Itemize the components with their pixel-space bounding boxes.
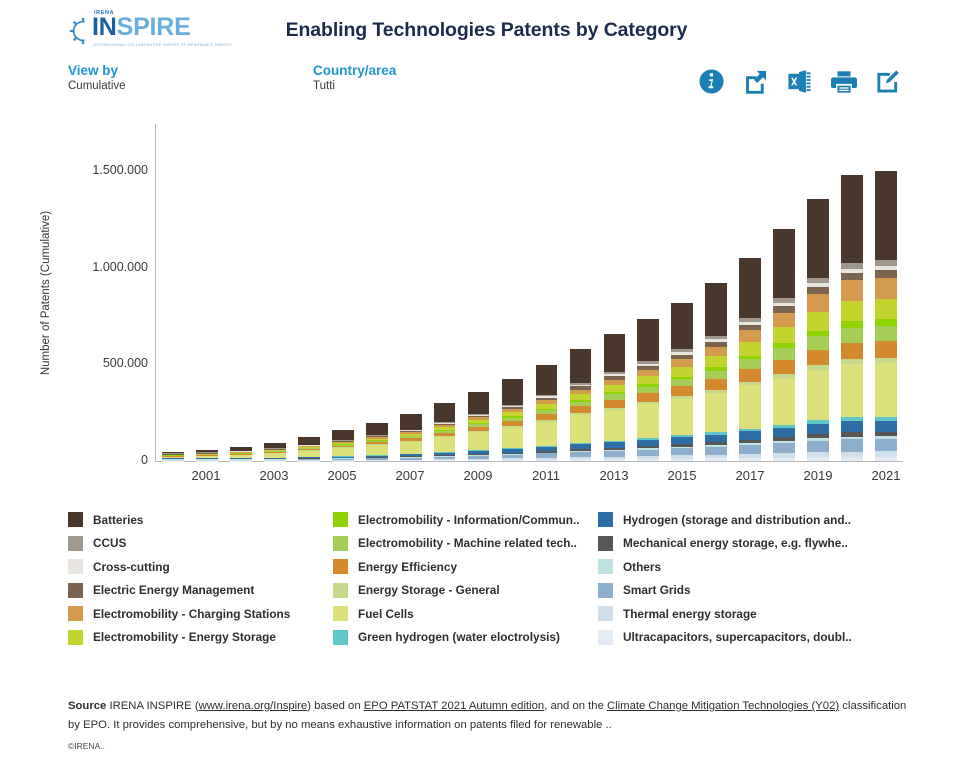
bar-segment[interactable] — [705, 435, 727, 443]
bar-segment[interactable] — [875, 421, 897, 432]
bar-segment[interactable] — [298, 437, 320, 445]
legend-label: Ultracapacitors, supercapacitors, doubl.… — [623, 630, 852, 644]
legend-swatch — [333, 583, 348, 598]
stacked-bar[interactable] — [570, 349, 592, 461]
bar-segment[interactable] — [671, 448, 693, 455]
bar-segment[interactable] — [807, 312, 829, 331]
bar-segment[interactable] — [807, 294, 829, 312]
view-by-control[interactable]: View by Cumulative — [68, 63, 126, 94]
legend-swatch — [333, 606, 348, 621]
bar-segment[interactable] — [739, 369, 761, 382]
bar-segment[interactable] — [366, 423, 388, 436]
bar-segment[interactable] — [671, 379, 693, 386]
bar-slot — [156, 124, 190, 461]
bar-segment[interactable] — [604, 400, 626, 408]
legend-item[interactable]: Batteries — [68, 508, 333, 532]
bar-slot — [462, 124, 496, 461]
stacked-bar[interactable] — [536, 365, 558, 461]
stacked-bar-chart: Number of Patents (Cumulative) 0500.0001… — [0, 112, 973, 497]
legend-item[interactable]: Ultracapacitors, supercapacitors, doubl.… — [598, 626, 898, 650]
stacked-bar[interactable] — [875, 171, 897, 461]
bar-slot — [496, 124, 530, 461]
info-icon[interactable] — [698, 68, 725, 95]
bar-segment[interactable] — [807, 457, 829, 461]
bar-segment[interactable] — [671, 399, 693, 436]
legend-swatch — [333, 512, 348, 527]
bar-segment[interactable] — [875, 326, 897, 341]
stacked-bar[interactable] — [162, 452, 184, 461]
bar-segment[interactable] — [637, 319, 659, 361]
legend-item[interactable]: Fuel Cells — [333, 602, 598, 626]
legend-item[interactable]: Energy Storage - General — [333, 579, 598, 603]
bar-slot — [631, 124, 665, 461]
toolbar — [698, 68, 901, 95]
country-area-label: Country/area — [313, 63, 396, 78]
bar-segment[interactable] — [875, 457, 897, 461]
stacked-bar[interactable] — [671, 303, 693, 461]
bar-segment[interactable] — [604, 410, 626, 441]
legend-label: Energy Efficiency — [358, 560, 457, 574]
bar-segment[interactable] — [875, 439, 897, 452]
legend-column: Hydrogen (storage and distribution and..… — [598, 508, 898, 663]
bar-segment[interactable] — [739, 359, 761, 369]
x-axis-tick: 2009 — [461, 468, 495, 492]
bar-segment[interactable] — [875, 270, 897, 278]
bar-segment[interactable] — [841, 439, 863, 451]
bar-segment[interactable] — [637, 376, 659, 384]
bar-slot — [597, 124, 631, 461]
legend-swatch — [68, 559, 83, 574]
bar-slot — [529, 124, 563, 461]
legend: BatteriesCCUSCross-cuttingElectric Energ… — [68, 508, 908, 663]
bar-segment[interactable] — [739, 431, 761, 440]
stacked-bar[interactable] — [468, 392, 490, 461]
bar-segment[interactable] — [739, 385, 761, 428]
bar-segment[interactable] — [875, 341, 897, 358]
bar-segment[interactable] — [400, 442, 422, 454]
y-axis-ticks: 0500.0001.000.0001.500.000 — [58, 112, 148, 462]
page-title: Enabling Technologies Patents by Categor… — [0, 19, 973, 42]
stacked-bar[interactable] — [739, 258, 761, 461]
x-axis-tick: 2019 — [801, 468, 835, 492]
bar-segment[interactable] — [841, 457, 863, 461]
bar-group — [156, 124, 903, 461]
stacked-bar[interactable] — [502, 379, 524, 461]
source-link[interactable]: www.irena.org/Inspire — [199, 700, 308, 712]
bar-segment[interactable] — [807, 370, 829, 421]
bar-segment[interactable] — [773, 360, 795, 374]
print-icon[interactable] — [830, 68, 857, 95]
source-link[interactable]: Climate Change Mitigation Technologies (… — [607, 700, 839, 712]
country-area-value[interactable]: Tutti — [313, 79, 396, 94]
bar-segment[interactable] — [705, 347, 727, 356]
legend-label: Electromobility - Energy Storage — [93, 630, 276, 644]
legend-item[interactable]: Electromobility - Charging Stations — [68, 602, 333, 626]
x-axis-ticks: 2001200320052007200920112013201520172019… — [155, 468, 903, 492]
bar-segment[interactable] — [604, 334, 626, 372]
bar-segment[interactable] — [705, 379, 727, 390]
stacked-bar[interactable] — [264, 443, 286, 461]
legend-label: Electromobility - Machine related tech.. — [358, 536, 577, 550]
bar-segment[interactable] — [637, 459, 659, 461]
stacked-bar[interactable] — [332, 430, 354, 461]
bar-slot — [665, 124, 699, 461]
bar-segment[interactable] — [739, 258, 761, 318]
bar-slot — [326, 124, 360, 461]
source-text: ) based on — [307, 700, 364, 712]
source-body: IRENA INSPIRE (www.irena.org/Inspire) ba… — [68, 700, 906, 731]
bar-segment[interactable] — [773, 313, 795, 328]
x-axis-tick — [291, 468, 325, 492]
excel-export-icon[interactable] — [786, 68, 813, 95]
bar-segment[interactable] — [705, 393, 727, 433]
legend-label: Mechanical energy storage, e.g. flywhe.. — [623, 536, 848, 550]
bar-segment[interactable] — [570, 415, 592, 443]
x-axis-tick: 2001 — [189, 468, 223, 492]
bar-segment[interactable] — [671, 359, 693, 367]
x-axis-tick — [631, 468, 665, 492]
bar-segment[interactable] — [807, 350, 829, 366]
legend-label: Batteries — [93, 513, 144, 527]
bar-slot — [801, 124, 835, 461]
bar-segment[interactable] — [773, 443, 795, 453]
legend-label: Hydrogen (storage and distribution and.. — [623, 513, 851, 527]
legend-label: Electromobility - Charging Stations — [93, 607, 290, 621]
y-axis-tick: 0 — [58, 453, 148, 467]
bar-segment[interactable] — [841, 328, 863, 343]
legend-swatch — [333, 536, 348, 551]
legend-label: Energy Storage - General — [358, 583, 500, 597]
x-axis-tick — [767, 468, 801, 492]
bar-segment[interactable] — [841, 364, 863, 417]
copyright-note: ©IRENA.. — [68, 741, 105, 751]
bar-segment[interactable] — [773, 348, 795, 360]
legend-item[interactable]: Green hydrogen (water eloctrolysis) — [333, 626, 598, 650]
legend-label: Thermal energy storage — [623, 607, 757, 621]
y-axis-tick: 1.500.000 — [58, 163, 148, 177]
stacked-bar[interactable] — [230, 447, 252, 461]
bar-segment[interactable] — [468, 392, 490, 414]
bar-slot — [835, 124, 869, 461]
legend-item[interactable]: Electromobility - Machine related tech.. — [333, 532, 598, 556]
legend-label: CCUS — [93, 536, 126, 550]
bar-segment[interactable] — [841, 343, 863, 360]
legend-item[interactable]: Thermal energy storage — [598, 602, 898, 626]
bar-segment[interactable] — [570, 406, 592, 413]
legend-swatch — [68, 630, 83, 645]
bar-slot — [699, 124, 733, 461]
bar-slot — [767, 124, 801, 461]
view-by-value[interactable]: Cumulative — [68, 79, 126, 94]
stacked-bar[interactable] — [637, 319, 659, 461]
stacked-bar[interactable] — [807, 199, 829, 461]
bar-segment[interactable] — [671, 459, 693, 461]
bar-segment[interactable] — [807, 336, 829, 350]
logo-tagline: INTERNATIONAL COLLABORATIVE INSPIRE OF R… — [93, 43, 232, 47]
stacked-bar[interactable] — [196, 450, 218, 461]
bar-segment[interactable] — [502, 427, 524, 448]
x-axis-tick — [699, 468, 733, 492]
legend-swatch — [68, 512, 83, 527]
stacked-bar[interactable] — [298, 437, 320, 461]
bar-slot — [733, 124, 767, 461]
x-axis-tick — [495, 468, 529, 492]
bar-segment[interactable] — [366, 445, 388, 455]
y-axis-tick: 500.000 — [58, 356, 148, 370]
source-text: IRENA INSPIRE ( — [106, 700, 198, 712]
bar-segment[interactable] — [841, 175, 863, 263]
bar-slot — [292, 124, 326, 461]
bar-segment[interactable] — [841, 301, 863, 321]
bar-segment[interactable] — [366, 460, 388, 461]
bar-segment[interactable] — [536, 460, 558, 461]
legend-item[interactable]: Energy Efficiency — [333, 555, 598, 579]
bar-slot — [258, 124, 292, 461]
bar-segment[interactable] — [434, 437, 456, 452]
bar-segment[interactable] — [570, 459, 592, 461]
legend-item[interactable]: Hydrogen (storage and distribution and.. — [598, 508, 898, 532]
legend-label: Smart Grids — [623, 583, 691, 597]
bar-segment[interactable] — [705, 458, 727, 461]
bar-segment[interactable] — [875, 171, 897, 260]
bar-segment[interactable] — [773, 327, 795, 343]
bar-segment[interactable] — [773, 378, 795, 425]
bar-segment[interactable] — [671, 386, 693, 396]
bar-segment[interactable] — [400, 414, 422, 429]
legend-label: Others — [623, 560, 661, 574]
legend-swatch — [333, 630, 348, 645]
stacked-bar[interactable] — [773, 229, 795, 461]
bar-segment[interactable] — [604, 385, 626, 392]
legend-column: BatteriesCCUSCross-cuttingElectric Energ… — [68, 508, 333, 663]
country-area-control[interactable]: Country/area Tutti — [313, 63, 396, 94]
source-note: Source IRENA INSPIRE (www.irena.org/Insp… — [68, 697, 913, 735]
bar-segment[interactable] — [502, 379, 524, 404]
legend-label: Green hydrogen (water eloctrolysis) — [358, 630, 560, 644]
y-axis-tick: 1.000.000 — [58, 260, 148, 274]
bar-segment[interactable] — [502, 460, 524, 461]
x-axis-tick — [155, 468, 189, 492]
bar-segment[interactable] — [739, 330, 761, 342]
bar-segment[interactable] — [604, 459, 626, 461]
bar-segment[interactable] — [739, 342, 761, 355]
y-axis-label: Number of Patents (Cumulative) — [40, 183, 52, 403]
bar-segment[interactable] — [434, 460, 456, 461]
bar-segment[interactable] — [875, 363, 897, 417]
x-axis-tick: 2011 — [529, 468, 563, 492]
legend-item[interactable]: Mechanical energy storage, e.g. flywhe.. — [598, 532, 898, 556]
bar-segment[interactable] — [536, 422, 558, 446]
bar-slot — [563, 124, 597, 461]
stacked-bar[interactable] — [841, 175, 863, 461]
bar-segment[interactable] — [807, 199, 829, 278]
external-link-icon[interactable] — [742, 68, 769, 95]
bar-segment[interactable] — [637, 393, 659, 402]
bar-segment[interactable] — [841, 421, 863, 432]
stacked-bar[interactable] — [604, 334, 626, 461]
bar-segment[interactable] — [807, 441, 829, 452]
source-text: , and on the — [544, 700, 607, 712]
view-by-label: View by — [68, 63, 126, 78]
legend-item[interactable]: Others — [598, 555, 898, 579]
bar-segment[interactable] — [773, 458, 795, 462]
bar-segment[interactable] — [739, 458, 761, 461]
bar-segment[interactable] — [536, 365, 558, 394]
bar-segment[interactable] — [705, 283, 727, 335]
legend-item[interactable]: CCUS — [68, 532, 333, 556]
x-axis-tick — [835, 468, 869, 492]
legend-label: Fuel Cells — [358, 607, 414, 621]
bar-segment[interactable] — [637, 404, 659, 438]
legend-swatch — [598, 630, 613, 645]
bar-segment[interactable] — [332, 430, 354, 440]
bar-segment[interactable] — [468, 460, 490, 461]
bar-segment[interactable] — [434, 403, 456, 422]
bar-slot — [428, 124, 462, 461]
stacked-bar[interactable] — [705, 283, 727, 461]
x-axis-tick: 2005 — [325, 468, 359, 492]
dashboard-page: IRENA INSPIRE INTERNATIONAL COLLABORATIV… — [0, 0, 973, 765]
stacked-bar[interactable] — [434, 403, 456, 461]
x-axis-tick — [563, 468, 597, 492]
bar-segment[interactable] — [807, 287, 829, 294]
legend-swatch — [598, 583, 613, 598]
legend-swatch — [68, 583, 83, 598]
legend-item[interactable]: Electromobility - Energy Storage — [68, 626, 333, 650]
bar-segment[interactable] — [841, 280, 863, 300]
legend-swatch — [68, 606, 83, 621]
bar-segment[interactable] — [468, 432, 490, 450]
legend-label: Cross-cutting — [93, 560, 170, 574]
bar-slot — [360, 124, 394, 461]
legend-item[interactable]: Electromobility - Information/Commun.. — [333, 508, 598, 532]
x-axis-tick: 2007 — [393, 468, 427, 492]
edit-icon[interactable] — [874, 68, 901, 95]
bar-segment[interactable] — [807, 424, 829, 435]
footer: Source IRENA INSPIRE (www.irena.org/Insp… — [68, 697, 913, 735]
legend-swatch — [598, 559, 613, 574]
bar-slot — [394, 124, 428, 461]
x-axis-tick — [427, 468, 461, 492]
x-axis-tick — [223, 468, 257, 492]
x-axis-tick: 2017 — [733, 468, 767, 492]
bar-segment[interactable] — [875, 299, 897, 320]
legend-swatch — [68, 536, 83, 551]
bar-slot — [190, 124, 224, 461]
bar-segment[interactable] — [739, 445, 761, 454]
bar-segment[interactable] — [773, 229, 795, 298]
x-axis-tick — [359, 468, 393, 492]
bar-segment[interactable] — [332, 448, 354, 456]
bar-segment[interactable] — [671, 367, 693, 377]
legend-item[interactable]: Smart Grids — [598, 579, 898, 603]
bar-segment[interactable] — [875, 278, 897, 299]
bar-segment[interactable] — [671, 437, 693, 444]
bar-segment[interactable] — [570, 349, 592, 383]
bar-segment[interactable] — [400, 460, 422, 461]
bar-slot — [869, 124, 903, 461]
stacked-bar[interactable] — [400, 414, 422, 461]
legend-item[interactable]: Cross-cutting — [68, 555, 333, 579]
bar-segment[interactable] — [705, 447, 727, 455]
x-axis-tick: 2021 — [869, 468, 903, 492]
bar-segment[interactable] — [671, 303, 693, 350]
x-axis-tick: 2013 — [597, 468, 631, 492]
x-axis-tick: 2015 — [665, 468, 699, 492]
header: IRENA INSPIRE INTERNATIONAL COLLABORATIV… — [0, 0, 973, 112]
stacked-bar[interactable] — [366, 423, 388, 461]
source-label: Source — [68, 700, 106, 712]
source-link[interactable]: EPO PATSTAT 2021 Autumn edition — [364, 700, 544, 712]
bar-segment[interactable] — [773, 428, 795, 438]
legend-swatch — [598, 512, 613, 527]
legend-label: Electric Energy Management — [93, 583, 254, 597]
legend-swatch — [598, 536, 613, 551]
legend-label: Electromobility - Information/Commun.. — [358, 513, 580, 527]
legend-column: Electromobility - Information/Commun..El… — [333, 508, 598, 663]
bar-segment[interactable] — [841, 273, 863, 281]
bar-segment[interactable] — [705, 356, 727, 367]
legend-swatch — [333, 559, 348, 574]
bar-segment[interactable] — [705, 371, 727, 379]
plot-region — [155, 124, 903, 462]
legend-item[interactable]: Electric Energy Management — [68, 579, 333, 603]
legend-swatch — [598, 606, 613, 621]
x-axis-tick: 2003 — [257, 468, 291, 492]
bar-slot — [224, 124, 258, 461]
